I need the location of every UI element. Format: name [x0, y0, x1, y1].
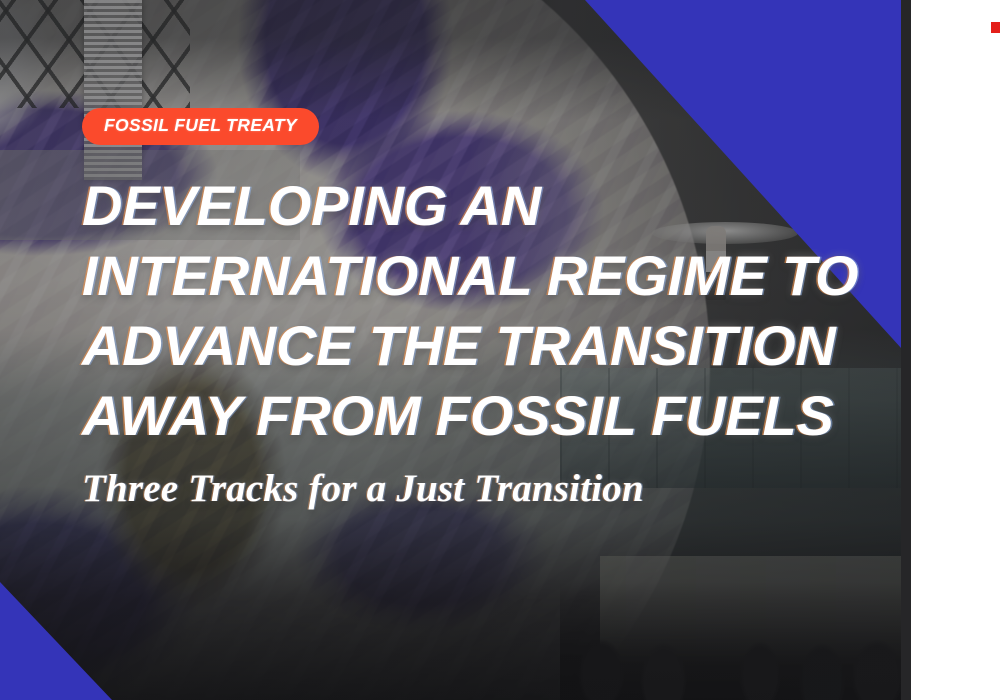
hero-headline: DEVELOPING AN INTERNATIONAL REGIME TO AD…: [82, 171, 862, 451]
audience-silhouettes: [560, 582, 901, 700]
page-root: FOSSIL FUEL TREATY DEVELOPING AN INTERNA…: [0, 0, 1000, 700]
hero-banner: FOSSIL FUEL TREATY DEVELOPING AN INTERNA…: [0, 0, 901, 700]
page-scrollbar[interactable]: [901, 0, 911, 700]
eyebrow-badge: FOSSIL FUEL TREATY: [82, 108, 319, 145]
hero-subheadline: Three Tracks for a Just Transition: [82, 465, 862, 513]
red-square-marker[interactable]: [991, 22, 1000, 33]
hero-copy: FOSSIL FUEL TREATY DEVELOPING AN INTERNA…: [82, 108, 862, 513]
right-white-pane: [911, 0, 1000, 700]
